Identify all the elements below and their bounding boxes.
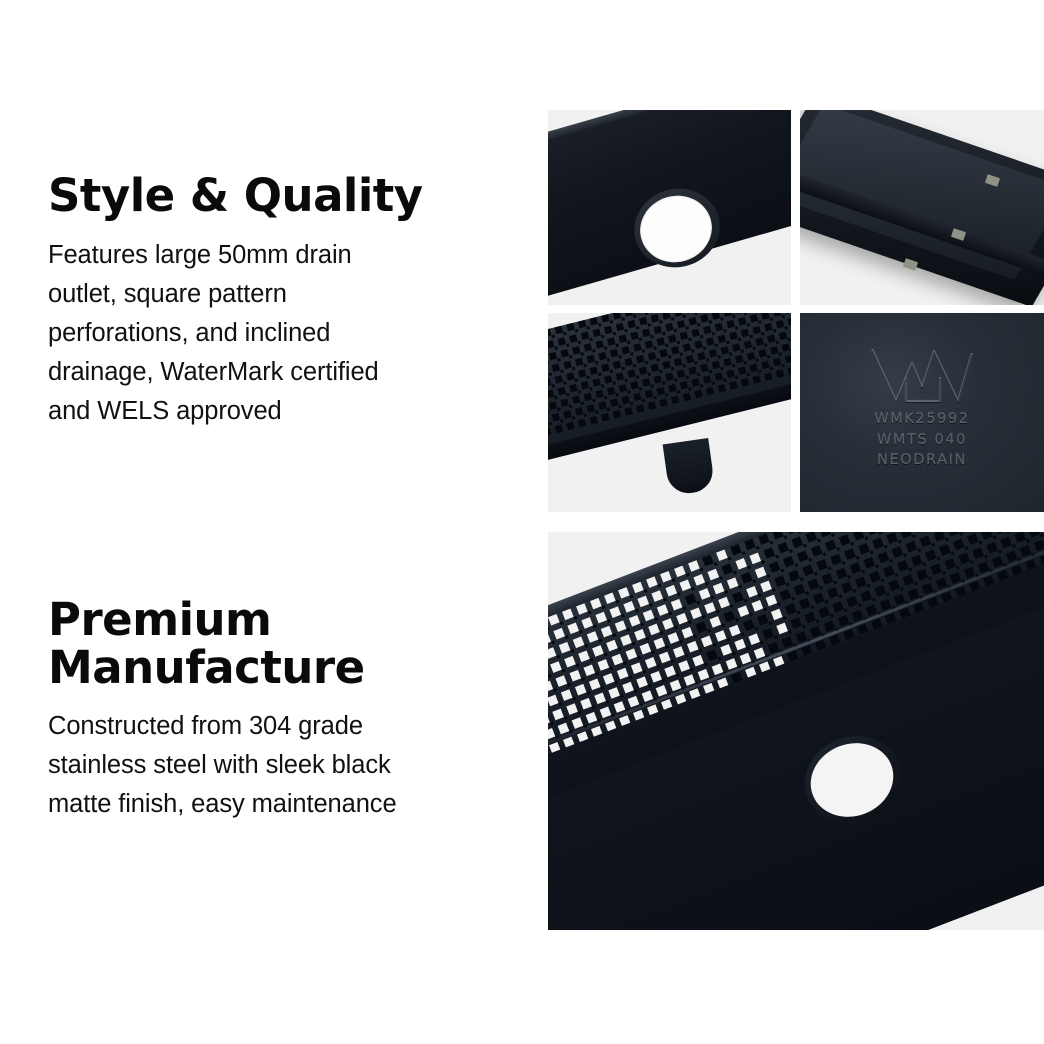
section-premium-manufacture: Premium Manufacture Constructed from 304… bbox=[48, 596, 518, 824]
section-heading: Style & Quality bbox=[48, 172, 518, 220]
photo-tile-insert-grate-frame bbox=[800, 110, 1044, 305]
section-body: Constructed from 304 grade stainless ste… bbox=[48, 707, 518, 824]
watermark-code-line: NEODRAIN bbox=[822, 450, 1022, 471]
section-body: Features large 50mm drain outlet, square… bbox=[48, 236, 518, 431]
watermark-code-line: WMTS 040 bbox=[822, 430, 1022, 451]
watermark-code-line: WMK25992 bbox=[822, 409, 1022, 430]
photo-watermark-certification-emboss: WMK25992 WMTS 040 NEODRAIN bbox=[800, 313, 1044, 512]
text-column: Style & Quality Features large 50mm drai… bbox=[48, 0, 518, 1044]
watermark-logo-icon bbox=[862, 343, 982, 407]
photo-drain-channel-with-50mm-outlet bbox=[548, 110, 791, 305]
infographic-page: Style & Quality Features large 50mm drai… bbox=[0, 0, 1044, 1044]
watermark-code-block: WMK25992 WMTS 040 NEODRAIN bbox=[822, 409, 1022, 471]
section-heading: Premium Manufacture bbox=[48, 596, 518, 691]
product-photo-grid: WMK25992 WMTS 040 NEODRAIN bbox=[548, 110, 1044, 930]
photo-perforated-grate-in-channel-body bbox=[548, 532, 1044, 930]
photo-square-pattern-perforated-grate bbox=[548, 313, 791, 512]
section-style-quality: Style & Quality Features large 50mm drai… bbox=[48, 172, 518, 431]
